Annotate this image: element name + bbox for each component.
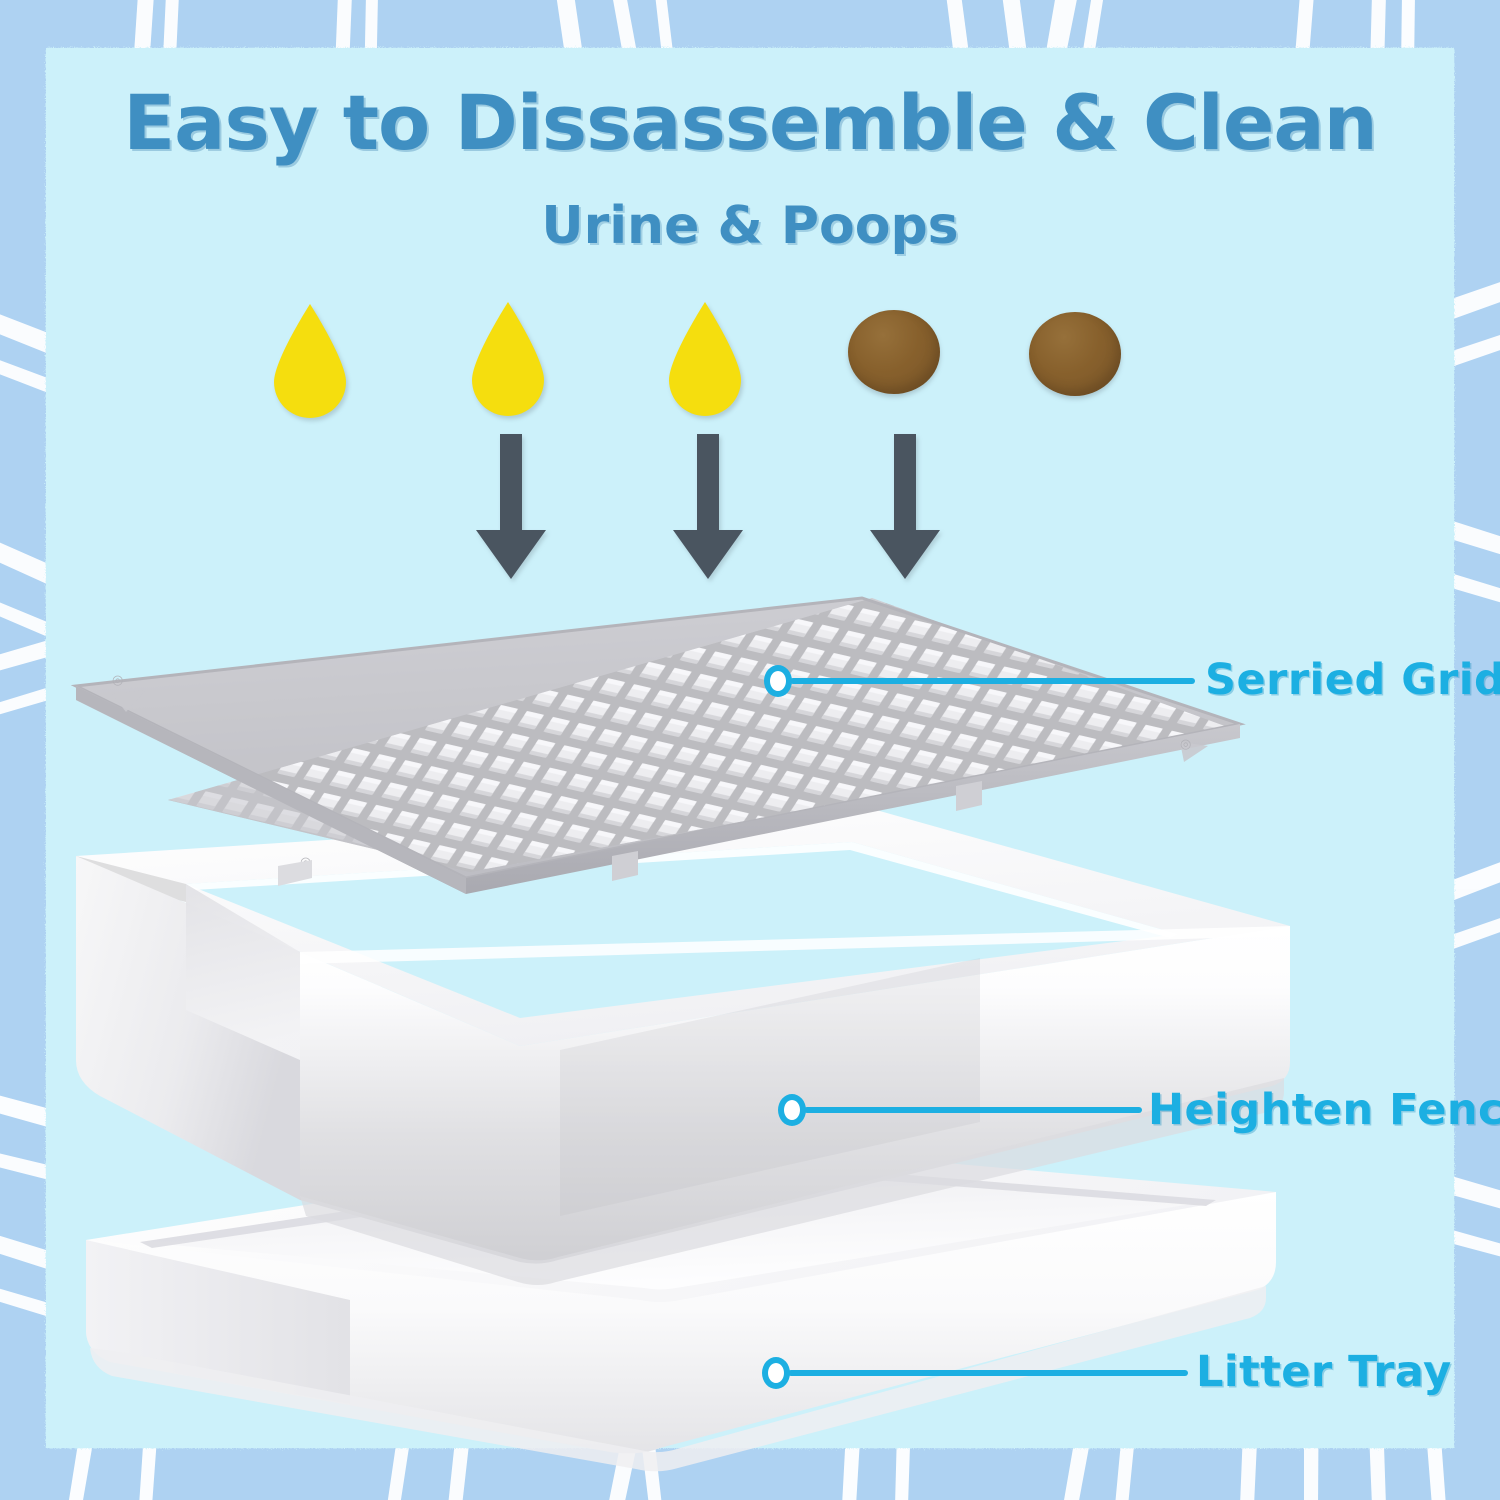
callout-dot-litter-tray[interactable] [762, 1357, 790, 1389]
callout-line-litter-tray [788, 1370, 1188, 1376]
callout-line-heighten-fence [804, 1107, 1142, 1113]
svg-text:◎: ◎ [112, 673, 123, 688]
callout-label-litter-tray: Litter Tray [1196, 1347, 1452, 1397]
svg-text:◎: ◎ [1180, 737, 1191, 752]
callout-label-serried-grid: Serried Grid [1205, 655, 1500, 705]
callout-dot-serried-grid[interactable] [764, 665, 792, 697]
callout-dot-heighten-fence[interactable] [778, 1094, 806, 1126]
callout-label-heighten-fence: Heighten Fence [1148, 1085, 1500, 1135]
exploded-product-view: ◎ ◎ ◎ [0, 0, 1500, 1500]
callout-line-serried-grid [790, 678, 1195, 684]
